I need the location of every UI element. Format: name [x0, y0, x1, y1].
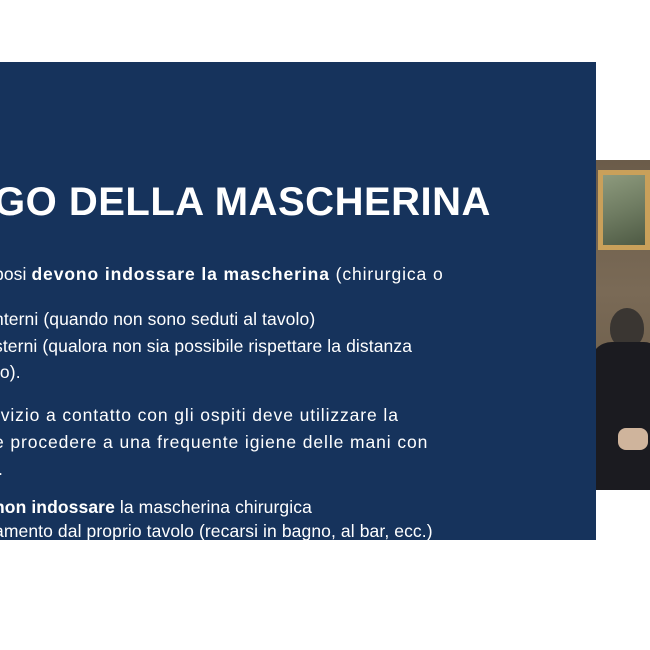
slide-line-8-part-1: non indossare — [0, 497, 120, 517]
slide-line-9: amento dal proprio tavolo (recarsi in ba… — [0, 521, 433, 540]
slide-line-8: non indossare la mascherina chirurgica — [0, 497, 312, 518]
video-stream[interactable]: GO DELLA MASCHERINA posi devono indossar… — [0, 0, 650, 568]
comment-bar: mento... — [0, 568, 650, 650]
slide-line-8-part-2: la mascherina chirurgica — [120, 497, 312, 517]
slide-line-7: i. — [0, 459, 3, 480]
slide-line-1: posi devono indossare la mascherina (chi… — [0, 264, 444, 285]
slide-line-6: e procedere a una frequente igiene delle… — [0, 432, 428, 453]
wall-picture-image — [603, 175, 645, 245]
slide-line-1-part-1: posi — [0, 264, 31, 284]
slide-line-3: sterni (qualora non sia possibile rispet… — [0, 336, 412, 357]
screen: GO DELLA MASCHERINA posi devono indossar… — [0, 0, 650, 650]
speaker-body — [596, 342, 650, 490]
wall-picture-frame — [598, 170, 650, 250]
presentation-slide: GO DELLA MASCHERINA posi devono indossar… — [0, 62, 596, 540]
slide-title: GO DELLA MASCHERINA — [0, 180, 491, 225]
slide-line-1-part-3: (chirurgica o — [336, 264, 444, 284]
slide-content: GO DELLA MASCHERINA posi devono indossar… — [0, 62, 596, 540]
slide-line-2: nterni (quando non sono seduti al tavolo… — [0, 309, 315, 330]
slide-line-5: rvizio a contatto con gli ospiti deve ut… — [0, 405, 399, 426]
speaker-hand — [618, 428, 648, 450]
webcam-feed[interactable] — [596, 160, 650, 490]
slide-line-4: ro). — [0, 362, 21, 383]
slide-line-1-part-2: devono indossare la mascherina — [31, 264, 335, 284]
